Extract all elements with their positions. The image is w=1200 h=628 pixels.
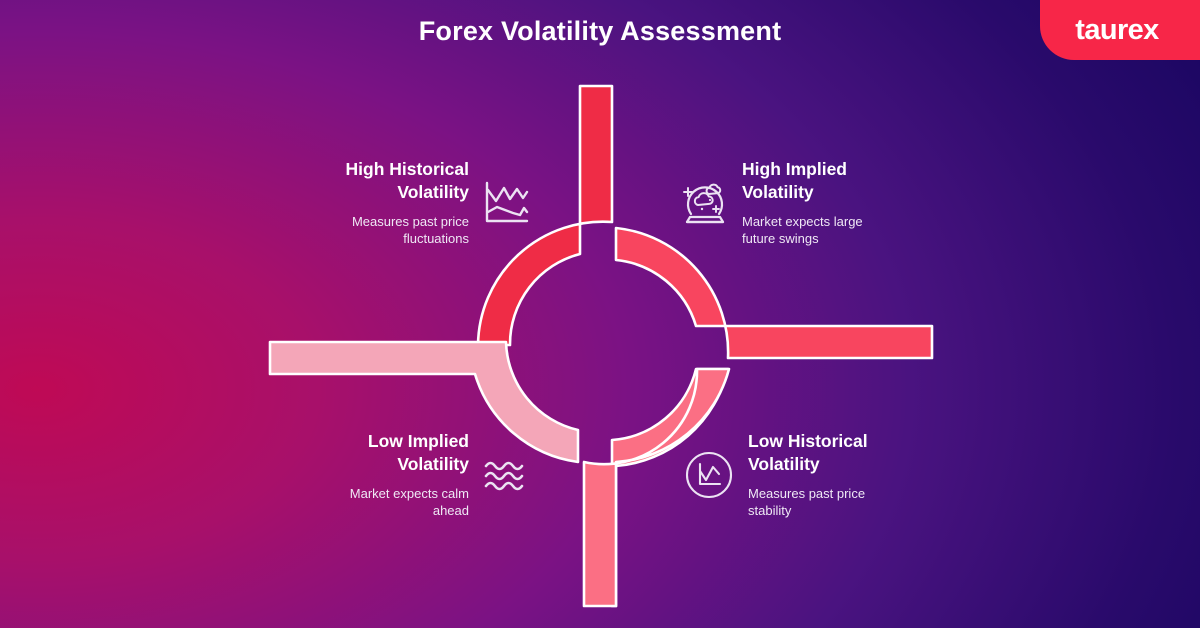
quadrant-title-line2: Volatility: [748, 454, 820, 474]
circle-chart-icon: [682, 448, 736, 502]
quadrant-label-low-historical-volatility: Low Historical Volatility Measures past …: [680, 430, 930, 520]
quadrant-text-block: Low Implied Volatility Market expects ca…: [350, 430, 477, 520]
quadrant-label-high-implied-volatility: High Implied Volatility Market expects l…: [676, 158, 926, 248]
volatility-quadrant-diagram: [0, 0, 1200, 628]
quadrant-desc-line1: Measures past price: [748, 486, 865, 501]
quadrant-description: Market expects large future swings: [742, 213, 863, 248]
quadrant-title-line1: High Historical: [346, 159, 470, 179]
quadrant-desc-line1: Market expects large: [742, 214, 863, 229]
quadrant-title-line1: Low Implied: [368, 431, 469, 451]
taurex-logo[interactable]: taurex: [1040, 0, 1200, 60]
icon-container: [477, 174, 535, 232]
infographic-canvas: Forex Volatility Assessment taurex High …: [0, 0, 1200, 628]
volatile-line-chart-icon: [479, 176, 533, 230]
quadrant-description: Measures past price fluctuations: [346, 213, 470, 248]
quadrant-desc-line2: future swings: [742, 231, 819, 246]
quadrant-desc-line2: fluctuations: [403, 231, 469, 246]
icon-container: [477, 446, 535, 504]
quadrant-text-block: High Historical Volatility Measures past…: [346, 158, 478, 248]
quadrant-desc-line2: stability: [748, 503, 791, 518]
quadrant-title-line1: Low Historical: [748, 431, 868, 451]
calm-waves-icon: [479, 448, 533, 502]
page-title: Forex Volatility Assessment: [0, 16, 1200, 47]
quadrant-title: Low Implied Volatility: [350, 430, 469, 476]
quadrant-title-line2: Volatility: [397, 182, 469, 202]
crystal-ball-icon: [678, 176, 732, 230]
quadrant-description: Measures past price stability: [748, 485, 868, 520]
logo-text: taurex: [1075, 16, 1164, 45]
quadrant-desc-line2: ahead: [433, 503, 469, 518]
quadrant-title: High Implied Volatility: [742, 158, 863, 204]
quadrant-description: Market expects calm ahead: [350, 485, 469, 520]
quadrant-desc-line1: Market expects calm: [350, 486, 469, 501]
quadrant-text-block: High Implied Volatility Market expects l…: [734, 158, 863, 248]
quadrant-desc-line1: Measures past price: [352, 214, 469, 229]
quadrant-text-block: Low Historical Volatility Measures past …: [738, 430, 868, 520]
icon-container: [680, 446, 738, 504]
quadrant-title-line2: Volatility: [742, 182, 814, 202]
quadrant-label-low-implied-volatility: Low Implied Volatility Market expects ca…: [300, 430, 535, 520]
quadrant-title: Low Historical Volatility: [748, 430, 868, 476]
quadrant-title-line2: Volatility: [397, 454, 469, 474]
quadrant-title-line1: High Implied: [742, 159, 847, 179]
quadrant-label-high-historical-volatility: High Historical Volatility Measures past…: [300, 158, 535, 248]
quadrant-title: High Historical Volatility: [346, 158, 470, 204]
icon-container: [676, 174, 734, 232]
